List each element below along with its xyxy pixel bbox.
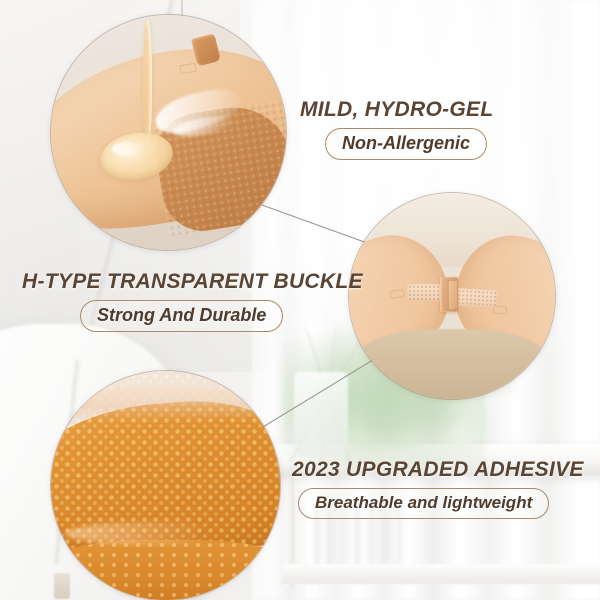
feature-text-upgraded-adhesive: 2023 UPGRADED ADHESIVE Breathable and li… bbox=[292, 458, 584, 519]
photo-circle-upgraded-adhesive[interactable] bbox=[50, 370, 281, 600]
feature-headline-upgraded-adhesive: 2023 UPGRADED ADHESIVE bbox=[292, 458, 584, 482]
photo-circle-hydro-gel[interactable] bbox=[50, 14, 287, 251]
feature-headline-hydro-gel: MILD, HYDRO-GEL bbox=[300, 98, 494, 122]
feature-headline-h-type-buckle: H-TYPE TRANSPARENT BUCKLE bbox=[22, 270, 363, 294]
feature-subtitle-hydro-gel: Non-Allergenic bbox=[325, 128, 487, 160]
feature-text-h-type-buckle: H-TYPE TRANSPARENT BUCKLE Strong And Dur… bbox=[22, 270, 363, 332]
gel-pool-highlight bbox=[112, 142, 143, 156]
feature-text-hydro-gel: MILD, HYDRO-GEL Non-Allergenic bbox=[300, 98, 494, 160]
adhesive-sheen bbox=[65, 522, 244, 545]
photo-circle-h-type-buckle[interactable] bbox=[348, 192, 556, 400]
adhesive-lower-dot-texture bbox=[60, 540, 280, 600]
buckle-strap-right bbox=[456, 288, 498, 308]
feature-subtitle-upgraded-adhesive: Breathable and lightweight bbox=[298, 488, 549, 519]
feature-subtitle-h-type-buckle: Strong And Durable bbox=[80, 300, 283, 332]
buckle-lower-fabric bbox=[357, 329, 547, 400]
gel-pour-stream bbox=[143, 20, 152, 147]
h-type-clasp-hook bbox=[449, 281, 457, 310]
